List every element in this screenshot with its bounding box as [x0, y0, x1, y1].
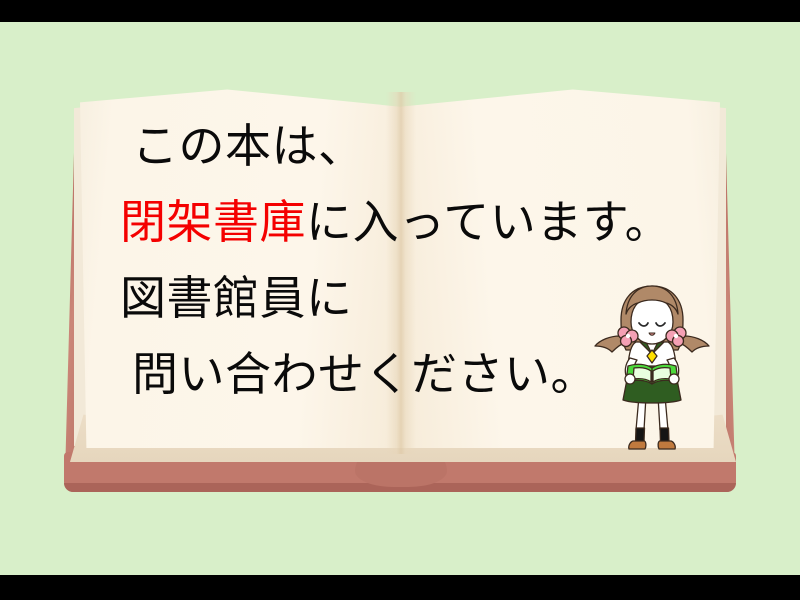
hand-right	[669, 374, 679, 384]
sock-left	[636, 428, 645, 442]
shoe-left	[629, 441, 646, 449]
message-line-2-highlight: 閉架書庫	[120, 195, 306, 249]
message-line-2-text: に入っています。	[306, 195, 671, 249]
message-line-3-text: 図書館員に	[120, 271, 353, 325]
librarian-girl-illustration	[592, 278, 712, 458]
slide-canvas: この本は、 閉架書庫に入っています。 図書館員に 問い合わせください。	[0, 0, 800, 600]
letterbox-bar-bottom	[0, 575, 800, 600]
message-line-2: 閉架書庫に入っています。	[120, 194, 720, 250]
shoe-right	[658, 441, 675, 449]
letterbox-bar-top	[0, 0, 800, 22]
message-line-1-text: この本は、	[132, 119, 365, 173]
mouth	[649, 333, 655, 335]
sock-right	[660, 428, 669, 442]
message-line-4-text: 問い合わせください。	[132, 347, 597, 401]
hand-left	[625, 374, 635, 384]
message-line-1: この本は、	[120, 118, 720, 174]
